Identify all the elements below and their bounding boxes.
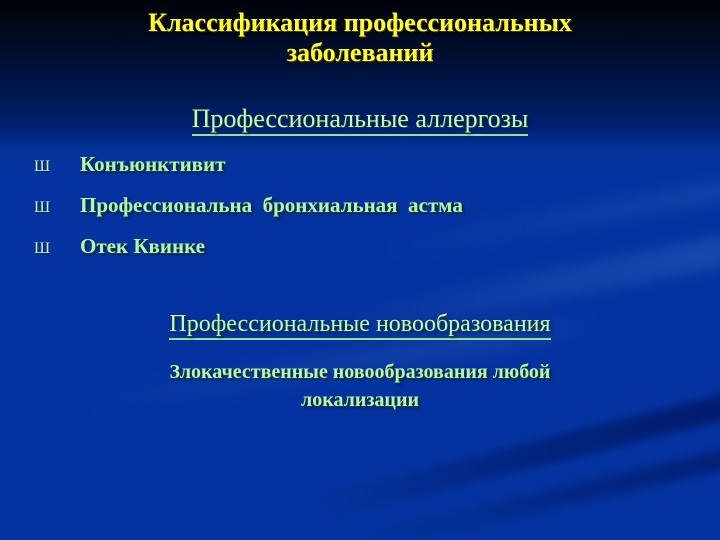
section-heading-allergy-text: Профессиональные аллергозы (192, 104, 529, 136)
section-heading-allergy: Профессиональные аллергозы (0, 104, 720, 134)
slide-title-line-1: Классификация профессиональных (0, 8, 720, 38)
bullet-glyph-icon: Ш (34, 240, 80, 258)
slide-title-line-2: заболеваний (0, 38, 720, 68)
section-heading-neoplasm-text: Профессиональные новообразования (169, 311, 550, 340)
list-item-label: Конъюнктивит (80, 152, 225, 177)
presentation-slide: Классификация профессиональных заболеван… (0, 0, 720, 540)
list-item: Ш Конъюнктивит (34, 152, 674, 182)
list-item: Ш Профессиональна бронхиальная астма (34, 193, 674, 223)
bullet-glyph-icon: Ш (34, 158, 80, 176)
list-item: Ш Отек Квинке (34, 234, 674, 264)
background-swoosh-decoration (344, 420, 720, 540)
allergy-bullet-list: Ш Конъюнктивит Ш Профессиональна бронхиа… (34, 152, 674, 275)
slide-title: Классификация профессиональных заболеван… (0, 8, 720, 68)
bullet-glyph-icon: Ш (34, 199, 80, 217)
section-heading-neoplasm: Профессиональные новообразования (0, 310, 720, 338)
list-item-label: Профессиональна бронхиальная астма (80, 193, 463, 218)
list-item-label: Отек Квинке (80, 234, 205, 259)
section-body-neoplasm: Злокачественные новообразования любой ло… (40, 358, 680, 414)
